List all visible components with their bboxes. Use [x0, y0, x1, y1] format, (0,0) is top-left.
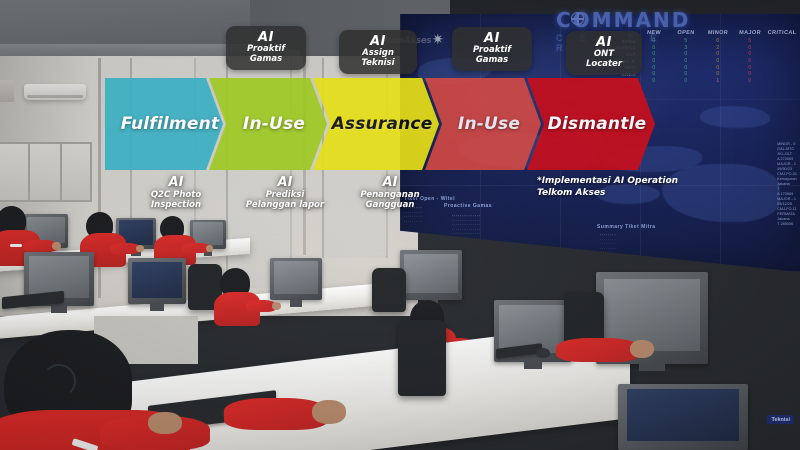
ai-subtitle: Penanganan Gangguan: [338, 190, 442, 210]
kpi-col-critical: CRITICAL: [766, 30, 799, 36]
chair-r1-2: [398, 320, 446, 396]
ai-callout-proaktif-gamas-1[interactable]: AI Proaktif Gamas: [226, 26, 306, 70]
ai-tag: AI: [234, 31, 298, 44]
kpi-cell: 0: [702, 38, 734, 44]
ai-tag: AI: [574, 36, 634, 49]
kpi-cell: 0: [670, 51, 702, 57]
kpi-cell: 5: [734, 38, 766, 44]
kpi-cell: 0: [670, 71, 702, 77]
kpi-col-major: MAJOR: [734, 30, 767, 36]
ticker-line: T 285006: [777, 222, 797, 227]
ai-tag: AI: [338, 176, 442, 190]
monitor-r2-3: [270, 258, 322, 300]
panel-title-proactive-gamas: Proactive Gamas: [444, 203, 492, 209]
process-stage-label: In-Use: [243, 114, 305, 134]
ai-callout-q2c-photo-inspection[interactable]: AI Q2C Photo Inspection: [122, 176, 230, 210]
kpi-col-new: NEW: [638, 30, 671, 36]
kpi-cell: 5: [670, 38, 702, 44]
process-stage-dismantle-5[interactable]: Dismantle: [527, 78, 655, 170]
minitable-right: · · · · · · · · · · · · · · · · · · · · …: [600, 233, 616, 251]
process-stage-in-use-2[interactable]: In-Use: [209, 78, 327, 170]
minitable-center: · · · · · · · · · · · · · · · · · · · · …: [452, 214, 480, 237]
footnote-implementasi-ai-operation: *Implementasi AI Operation Telkom Akses: [537, 176, 678, 199]
monitor-r2-2: [128, 258, 186, 304]
monitor-r2-4: [400, 250, 462, 300]
kpi-row: AREA0000: [612, 71, 798, 78]
ai-tag: AI: [122, 176, 230, 190]
chair-r2-2: [372, 268, 406, 312]
ai-callout-ont-locater[interactable]: AI ONT Locater: [566, 31, 642, 75]
ai-callout-prediksi-pelanggan-lapor[interactable]: AI Prediksi Pelanggan lapor: [226, 176, 344, 210]
kpi-col-open: OPEN: [670, 30, 703, 36]
ai-subtitle: Prediksi Pelanggan lapor: [226, 190, 344, 210]
ai-callout-proaktif-gamas-2[interactable]: AI Proaktif Gamas: [452, 27, 532, 71]
kpi-cell: 3: [670, 45, 702, 51]
kpi-cell: 2: [702, 45, 734, 51]
kpi-cell: 0: [638, 45, 670, 51]
air-conditioner-unit: [24, 84, 86, 100]
alarm-ticker: MINOR - 0GAL-MTCJKL-OLTA 270509MAJOR - 1…: [777, 142, 797, 227]
ai-callout-penanganan-gangguan[interactable]: AI Penanganan Gangguan: [338, 176, 442, 210]
operator-foreground-arm-right: [104, 376, 284, 450]
ai-subtitle: Assign Teknisi: [347, 49, 409, 68]
ai-tag: AI: [460, 32, 524, 45]
process-stage-label: Assurance: [332, 114, 433, 134]
kpi-cell: 0: [702, 58, 734, 64]
kpi-cell: 0: [638, 51, 670, 57]
kpi-cell: 0: [670, 58, 702, 64]
ai-subtitle: Proaktif Gamas: [234, 45, 298, 64]
ai-subtitle: ONT Locater: [574, 50, 634, 69]
kpi-cell: 0: [638, 71, 670, 77]
ai-tag: AI: [226, 176, 344, 190]
kpi-cell: 0: [734, 71, 766, 77]
process-stage-label: Dismantle: [548, 114, 647, 134]
ac-duct: [0, 80, 14, 102]
ai-tag: AI: [347, 35, 409, 48]
process-chevron-overlay: FulfilmentIn-UseAssuranceIn-UseDismantle: [105, 78, 690, 170]
kpi-col-minor: MINOR: [702, 30, 735, 36]
teknisi-chip: Teknisi: [767, 415, 794, 424]
kpi-cell: 0: [702, 71, 734, 77]
kpi-cell: 0: [734, 58, 766, 64]
starburst-icon: ✷: [432, 32, 446, 46]
monitor-r1-3: [618, 384, 748, 450]
process-stage-assurance-3[interactable]: Assurance: [313, 78, 439, 170]
kpi-cell: 0: [734, 78, 766, 84]
glass-cabinet: [0, 142, 92, 202]
mouse-r1-2[interactable]: [536, 348, 550, 358]
kpi-cell: 0: [670, 65, 702, 71]
headset-icon: [42, 364, 76, 398]
ai-subtitle: Q2C Photo Inspection: [122, 190, 230, 210]
process-stage-in-use-4[interactable]: In-Use: [425, 78, 541, 170]
kpi-cell: 0: [638, 58, 670, 64]
kpi-cell: 0: [734, 45, 766, 51]
process-stage-label: Fulfilment: [121, 114, 219, 134]
kpi-cell: 0: [638, 65, 670, 71]
kpi-cell: 0: [702, 51, 734, 57]
operator-mid-left: [0, 274, 40, 322]
operator-right-hand: [556, 328, 676, 376]
kpi-cell: 0: [734, 65, 766, 71]
kpi-cell: 0: [702, 65, 734, 71]
ai-callout-assign-teknisi[interactable]: AI Assign Teknisi: [339, 30, 417, 74]
screenshot-root: TelkomAkses ✷ COMMAND C E N T E R NEW OP…: [0, 0, 800, 450]
operator-mid-right: [216, 268, 276, 322]
kpi-cell: 1: [702, 78, 734, 84]
kpi-cell: 0: [734, 51, 766, 57]
ai-subtitle: Proaktif Gamas: [460, 46, 524, 65]
operator-back-right: [156, 216, 210, 264]
kpi-cell: 0: [638, 38, 670, 44]
process-stage-label: In-Use: [458, 114, 520, 134]
process-stage-fulfilment-1[interactable]: Fulfilment: [105, 78, 223, 170]
panel-title-summary-tiket-mitra: Summary Tiket Mitra: [597, 224, 656, 230]
